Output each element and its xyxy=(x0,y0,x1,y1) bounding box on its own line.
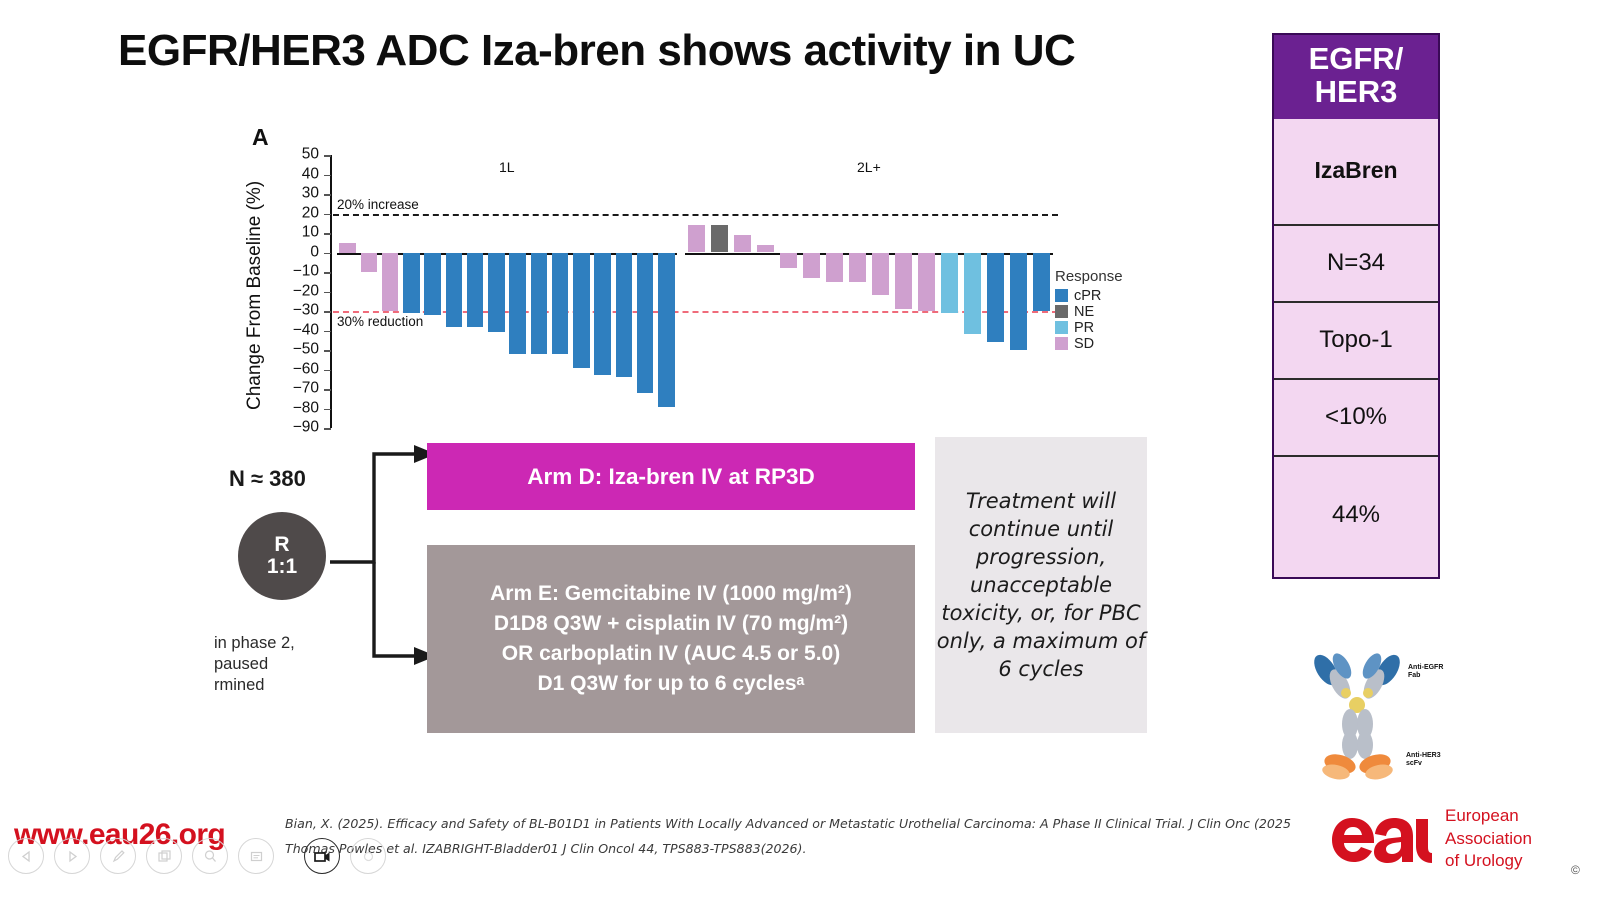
header-line-2: HER3 xyxy=(1274,76,1438,109)
arm-connector-arrows xyxy=(330,440,440,670)
anti-egfr-fab-label: Anti-EGFRFab xyxy=(1408,664,1443,680)
y-tick: 30 xyxy=(324,194,331,196)
legend-swatch xyxy=(1055,305,1068,318)
summary-row-rate1: <10% xyxy=(1274,378,1438,455)
grid-icon xyxy=(157,849,172,864)
arm-d-box: Arm D: Iza-bren IV at RP3D xyxy=(427,443,915,510)
bispecific-antibody-diagram: Anti-EGFRFab Anti-HER3scFv xyxy=(1288,648,1468,783)
summary-row-drug: IzaBren xyxy=(1274,119,1438,224)
waterfall-bar xyxy=(734,235,752,253)
waterfall-bar xyxy=(531,253,548,354)
waterfall-bar xyxy=(509,253,526,354)
legend-title: Response xyxy=(1055,268,1123,285)
legend-item: cPR xyxy=(1055,288,1123,303)
eau-logo: EuropeanAssociationof Urology xyxy=(1330,805,1532,873)
summary-table: EGFR/ HER3 IzaBren N=34 Topo-1 <10% 44% xyxy=(1272,33,1440,579)
waterfall-bar xyxy=(1033,253,1051,312)
y-tick-label: −90 xyxy=(293,419,319,437)
summary-row-n: N=34 xyxy=(1274,224,1438,301)
waterfall-bar xyxy=(573,253,590,368)
y-tick-label: −20 xyxy=(293,282,319,300)
summary-table-header: EGFR/ HER3 xyxy=(1274,35,1438,119)
treatment-duration-note: Treatment will continue until progressio… xyxy=(935,437,1147,733)
citation-line-1: Bian, X. (2025). Efficacy and Safety of … xyxy=(285,812,1335,837)
randomization-node: R 1:1 xyxy=(238,512,326,600)
group-label-2Lplus: 2L+ xyxy=(857,159,881,175)
waterfall-bar xyxy=(467,253,484,327)
anti-her3-scfv-label: Anti-HER3scFv xyxy=(1406,752,1441,768)
legend-label: PR xyxy=(1074,320,1094,336)
legend-swatch xyxy=(1055,321,1068,334)
y-tick: −80 xyxy=(324,409,331,411)
y-tick: 40 xyxy=(324,175,331,177)
waterfall-bar xyxy=(594,253,611,376)
arm-e-line: Arm E: Gemcitabine IV (1000 mg/m²) xyxy=(490,579,852,609)
slide-canvas: EGFR/HER3 ADC Iza-bren shows activity in… xyxy=(0,0,1600,899)
waterfall-bar xyxy=(757,245,775,253)
citations: Bian, X. (2025). Efficacy and Safety of … xyxy=(285,812,1335,861)
legend-label: NE xyxy=(1074,304,1094,320)
sample-size-label: N ≈ 380 xyxy=(229,466,306,492)
circle-icon xyxy=(362,850,375,863)
waterfall-bar xyxy=(849,253,867,282)
video-camera-icon xyxy=(313,849,332,864)
pen-icon xyxy=(111,849,126,864)
video-button[interactable] xyxy=(304,838,340,874)
waterfall-bar xyxy=(339,243,356,253)
waterfall-bar xyxy=(446,253,463,327)
legend-item: PR xyxy=(1055,320,1123,335)
y-tick-label: −40 xyxy=(293,321,319,339)
legend-swatch xyxy=(1055,337,1068,350)
waterfall-bar xyxy=(987,253,1005,343)
header-line-1: EGFR/ xyxy=(1274,43,1438,76)
presentation-toolbar[interactable] xyxy=(8,838,386,874)
waterfall-bar xyxy=(688,225,706,252)
chart-legend: Response cPRNEPRSD xyxy=(1055,268,1123,352)
summary-row-payload: Topo-1 xyxy=(1274,301,1438,378)
arm-e-line: OR carboplatin IV (AUC 4.5 or 5.0) xyxy=(502,639,840,669)
y-tick: 20 xyxy=(324,214,331,216)
waterfall-bar xyxy=(964,253,982,335)
y-tick: 50 xyxy=(324,155,331,157)
more-button[interactable] xyxy=(350,838,386,874)
legend-swatch xyxy=(1055,289,1068,302)
y-tick-label: −70 xyxy=(293,380,319,398)
waterfall-bar xyxy=(552,253,569,354)
legend-label: SD xyxy=(1074,336,1094,352)
waterfall-bar xyxy=(895,253,913,310)
waterfall-bar xyxy=(826,253,844,282)
next-slide-button[interactable] xyxy=(54,838,90,874)
y-tick: 10 xyxy=(324,233,331,235)
panel-letter: A xyxy=(252,124,269,151)
waterfall-chart: 50403020100−10−20−30−40−50−60−70−80−90 2… xyxy=(300,155,1060,430)
label-30-reduction: 30% reduction xyxy=(337,314,423,329)
y-tick-label: 10 xyxy=(302,224,319,242)
arm-e-box: Arm E: Gemcitabine IV (1000 mg/m²)D1D8 Q… xyxy=(427,545,915,733)
randomization-ratio: 1:1 xyxy=(267,556,297,578)
eau-logo-text: EuropeanAssociationof Urology xyxy=(1445,805,1532,873)
group-label-1L: 1L xyxy=(499,159,515,175)
reference-line-increase xyxy=(333,214,1058,216)
legend-item: NE xyxy=(1055,304,1123,319)
y-tick-label: −80 xyxy=(293,399,319,417)
arm-e-line: D1 Q3W for up to 6 cyclesᵃ xyxy=(538,669,805,699)
y-tick-label: 20 xyxy=(302,204,319,222)
waterfall-bar xyxy=(658,253,675,407)
waterfall-bar xyxy=(918,253,936,312)
y-tick-label: −50 xyxy=(293,341,319,359)
waterfall-bar xyxy=(361,253,378,273)
y-tick: −20 xyxy=(324,292,331,294)
slide-overview-button[interactable] xyxy=(146,838,182,874)
waterfall-bar xyxy=(616,253,633,378)
citation-line-2: Thomas Powles et al. IZABRIGHT-Bladder01… xyxy=(285,837,1335,862)
triangle-left-icon xyxy=(20,850,33,863)
y-tick-label: −30 xyxy=(293,302,319,320)
chart-y-axis-label: Change From Baseline (%) xyxy=(244,160,270,430)
waterfall-bar xyxy=(488,253,505,333)
y-tick-label: −10 xyxy=(293,263,319,281)
pen-tool-button[interactable] xyxy=(100,838,136,874)
partial-footnote-text: in phase 2, pausedrmined xyxy=(214,633,295,696)
waterfall-bar xyxy=(1010,253,1028,351)
y-tick: 0 xyxy=(324,253,331,255)
legend-label: cPR xyxy=(1074,288,1101,304)
y-tick-label: 0 xyxy=(310,243,319,261)
magnifier-icon xyxy=(203,849,218,864)
randomization-letter: R xyxy=(274,534,289,556)
zoom-tool-button[interactable] xyxy=(192,838,228,874)
waterfall-bar xyxy=(872,253,890,296)
waterfall-bar xyxy=(424,253,441,315)
legend-item: SD xyxy=(1055,336,1123,351)
y-tick-label: 40 xyxy=(302,165,319,183)
previous-slide-button[interactable] xyxy=(8,838,44,874)
waterfall-bar xyxy=(403,253,420,313)
label-20-increase: 20% increase xyxy=(337,197,419,212)
y-tick: −60 xyxy=(324,370,331,372)
summary-row-rate2: 44% xyxy=(1274,455,1438,577)
y-tick-label: 30 xyxy=(302,185,319,203)
waterfall-bar xyxy=(780,253,798,269)
notes-button[interactable] xyxy=(238,838,274,874)
y-tick: −70 xyxy=(324,389,331,391)
waterfall-bar xyxy=(803,253,821,278)
y-tick-label: −60 xyxy=(293,360,319,378)
waterfall-bar xyxy=(382,253,399,312)
y-tick-label: 50 xyxy=(302,146,319,164)
waterfall-bar xyxy=(941,253,959,313)
page-title: EGFR/HER3 ADC Iza-bren shows activity in… xyxy=(118,26,1238,76)
waterfall-bar xyxy=(637,253,654,393)
notes-icon xyxy=(249,849,264,864)
y-tick: −50 xyxy=(324,350,331,352)
y-tick: −90 xyxy=(324,428,331,430)
waterfall-bar xyxy=(711,225,729,252)
copyright-symbol: © xyxy=(1571,863,1580,877)
arm-e-line: D1D8 Q3W + cisplatin IV (70 mg/m²) xyxy=(494,609,848,639)
triangle-right-icon xyxy=(66,850,79,863)
y-tick: −40 xyxy=(324,331,331,333)
y-tick: −30 xyxy=(324,311,331,313)
y-tick: −10 xyxy=(324,272,331,274)
eau-logo-mark xyxy=(1330,808,1434,870)
